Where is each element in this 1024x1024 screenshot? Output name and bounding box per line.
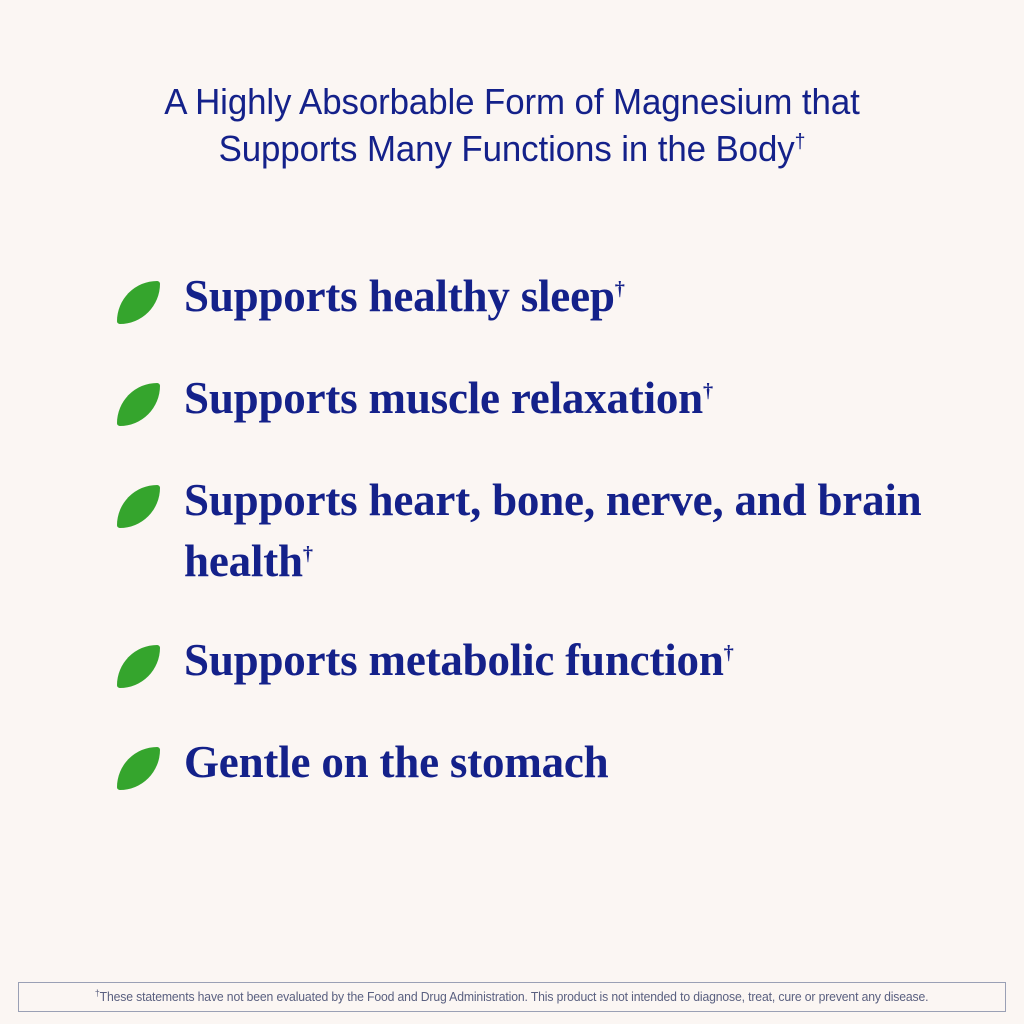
benefit-text-4: Supports metabolic function <box>184 635 724 685</box>
headline-line-1: A Highly Absorbable Form of Magnesium th… <box>23 78 1001 125</box>
fda-disclaimer-box: †These statements have not been evaluate… <box>18 982 1006 1012</box>
disclaimer-body: These statements have not been evaluated… <box>100 990 929 1004</box>
benefits-list: Supports healthy sleep† Supports muscle … <box>0 266 1024 793</box>
leaf-icon <box>117 485 160 528</box>
list-item: Supports healthy sleep† <box>0 266 1024 327</box>
list-item: Supports muscle relaxation† <box>0 368 1024 429</box>
benefit-label: Supports metabolic function† <box>184 630 734 691</box>
benefit-text-3: Supports heart, bone, nerve, and brain h… <box>184 475 922 586</box>
benefit-dagger-1: † <box>615 278 625 300</box>
benefit-text-5: Gentle on the stomach <box>184 737 609 787</box>
benefit-label: Supports muscle relaxation† <box>184 368 713 429</box>
benefit-dagger-4: † <box>724 642 734 664</box>
leaf-icon <box>117 645 160 688</box>
fda-disclaimer-text: †These statements have not been evaluate… <box>95 990 929 1004</box>
leaf-icon <box>117 281 160 324</box>
benefit-dagger-3: † <box>303 543 313 565</box>
list-item: Supports heart, bone, nerve, and brain h… <box>0 470 1024 592</box>
benefit-text-1: Supports healthy sleep <box>184 271 615 321</box>
benefit-label: Supports healthy sleep† <box>184 266 625 327</box>
benefit-label: Supports heart, bone, nerve, and brain h… <box>184 470 944 592</box>
headline-line-2-text: Supports Many Functions in the Body <box>219 128 795 169</box>
page-title: A Highly Absorbable Form of Magnesium th… <box>23 78 1001 172</box>
benefit-text-2: Supports muscle relaxation <box>184 373 703 423</box>
benefit-label: Gentle on the stomach <box>184 732 609 793</box>
leaf-icon <box>117 747 160 790</box>
list-item: Supports metabolic function† <box>0 630 1024 691</box>
headline-dagger: † <box>795 130 806 153</box>
list-item: Gentle on the stomach <box>0 732 1024 793</box>
headline-line-2: Supports Many Functions in the Body† <box>23 125 1001 172</box>
leaf-icon <box>117 383 160 426</box>
product-benefits-panel: A Highly Absorbable Form of Magnesium th… <box>0 0 1024 1024</box>
benefit-dagger-2: † <box>703 380 713 402</box>
